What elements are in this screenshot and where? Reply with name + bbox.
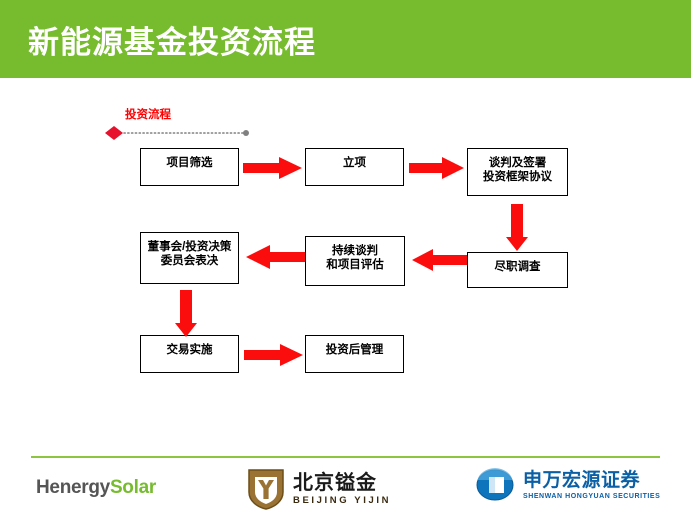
flow-step-ongoing-negotiation[interactable]: 持续谈判 和项目评估 [305, 236, 405, 286]
page-title: 新能源基金投资流程 [28, 24, 316, 62]
arrow-down-negotiation-to-due-diligence [505, 204, 529, 252]
flow-step-post-investment[interactable]: 投资后管理 [305, 335, 404, 373]
arrow-right-execution-to-post-investment [244, 344, 304, 366]
logo-yijin-chinese: 北京镒金 [293, 473, 391, 493]
flow-step-due-diligence[interactable]: 尽职调查 [467, 252, 568, 288]
arrow-right-initiation-to-negotiation [409, 157, 465, 179]
logo-shenwan-english: SHENWAN HONGYUAN SECURITIES [523, 493, 660, 500]
flowchart: 投资流程 项目筛选 立项 谈判及签署 投资框架协议 尽职调查 持续谈判 和项目评… [0, 78, 691, 438]
logo-beijing-yijin: 北京镒金 BEIJING YIJIN [247, 468, 391, 510]
flow-step-screening[interactable]: 项目筛选 [140, 148, 239, 186]
flow-step-execution[interactable]: 交易实施 [140, 335, 239, 373]
flow-step-negotiation[interactable]: 谈判及签署 投资框架协议 [467, 148, 568, 196]
shenwan-circle-icon [476, 468, 516, 502]
logo-solar-word: Solar [110, 477, 156, 498]
flowchart-leader-line [103, 123, 253, 143]
slide-canvas: 新能源基金投资流程 投资流程 项目筛选 立项 谈判及签署 投资框架协议 尽职调查… [0, 0, 691, 516]
shield-y-icon [247, 468, 285, 510]
arrow-right-screening-to-initiation [243, 157, 303, 179]
logo-henergy-solar: HenergySolar [36, 477, 156, 499]
flow-step-initiation[interactable]: 立项 [305, 148, 404, 186]
arrow-left-ongoing-to-board [245, 245, 305, 269]
logo-shenwan-chinese: 申万宏源证券 [523, 471, 660, 490]
logo-henergy-word: Henergy [36, 477, 110, 498]
footer-divider [31, 456, 660, 458]
logo-shenwan-hongyuan: 申万宏源证券 SHENWAN HONGYUAN SECURITIES [476, 468, 660, 502]
flow-step-board-resolution[interactable]: 董事会/投资决策 委员会表决 [140, 232, 239, 284]
flowchart-label: 投资流程 [125, 106, 171, 122]
footer-logo-row: HenergySolar 北京镒金 BEIJING YIJIN [0, 462, 691, 516]
logo-yijin-english: BEIJING YIJIN [293, 496, 391, 506]
arrow-left-due-diligence-to-ongoing [411, 249, 467, 271]
arrow-down-board-to-execution [174, 290, 198, 338]
